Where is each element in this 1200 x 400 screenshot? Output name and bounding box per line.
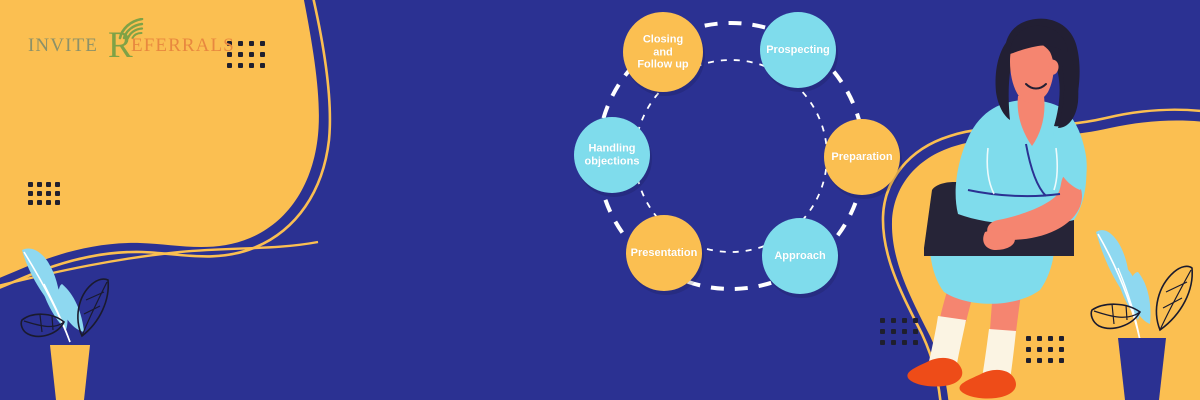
plant-left-pot	[50, 345, 90, 400]
banner-root: INVITE R EFERRALS Closing and Follow up …	[0, 0, 1200, 400]
logo[interactable]: INVITE R EFERRALS	[28, 18, 238, 64]
logo-text-r: R	[108, 24, 133, 67]
logo-text-eferrals: EFERRALS	[131, 35, 235, 57]
plant-right-leaf-outline-right	[1156, 266, 1192, 330]
plant-right	[1091, 230, 1192, 400]
plant-right-pot	[1118, 338, 1166, 400]
logo-text-invite: INVITE	[28, 35, 98, 57]
plant-left	[21, 249, 108, 400]
